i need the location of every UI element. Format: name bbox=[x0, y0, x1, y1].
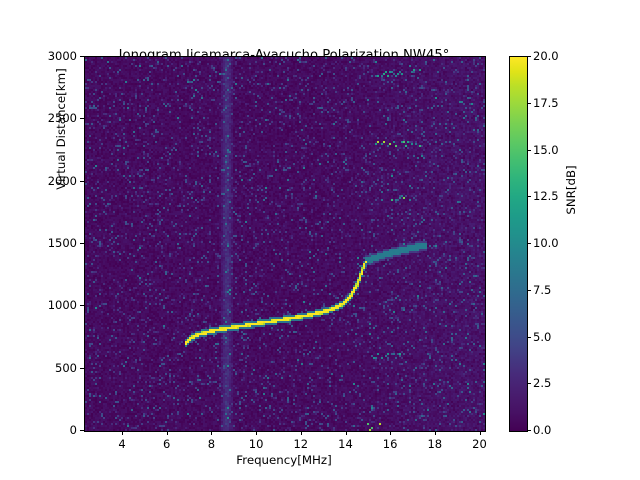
x-tick-label: 14 bbox=[326, 437, 366, 451]
x-tick-mark bbox=[167, 431, 168, 435]
colorbar-label: SNR[dB] bbox=[564, 130, 578, 250]
x-tick-mark bbox=[480, 431, 481, 435]
x-tick-label: 12 bbox=[281, 437, 321, 451]
y-tick-mark bbox=[80, 305, 84, 306]
y-tick-mark bbox=[80, 243, 84, 244]
x-tick-mark bbox=[346, 431, 347, 435]
y-tick-mark bbox=[80, 56, 84, 57]
y-tick-label: 3000 bbox=[17, 49, 77, 63]
x-tick-label: 4 bbox=[102, 437, 142, 451]
x-tick-label: 6 bbox=[147, 437, 187, 451]
y-tick-mark bbox=[80, 368, 84, 369]
x-tick-mark bbox=[211, 431, 212, 435]
x-tick-label: 10 bbox=[236, 437, 276, 451]
colorbar-tick-mark bbox=[527, 383, 531, 384]
y-tick-label: 2500 bbox=[17, 111, 77, 125]
x-tick-label: 20 bbox=[460, 437, 500, 451]
colorbar-tick-mark bbox=[527, 243, 531, 244]
colorbar-tick-mark bbox=[527, 430, 531, 431]
colorbar-tick-label: 0.0 bbox=[533, 423, 551, 437]
colorbar-tick-label: 15.0 bbox=[533, 143, 559, 157]
x-tick-label: 18 bbox=[415, 437, 455, 451]
colorbar-tick-mark bbox=[527, 103, 531, 104]
x-tick-mark bbox=[301, 431, 302, 435]
x-tick-mark bbox=[122, 431, 123, 435]
y-tick-mark bbox=[80, 118, 84, 119]
colorbar-tick-label: 10.0 bbox=[533, 236, 559, 250]
colorbar-tick-mark bbox=[527, 150, 531, 151]
y-tick-mark bbox=[80, 181, 84, 182]
colorbar-tick-mark bbox=[527, 290, 531, 291]
x-tick-mark bbox=[256, 431, 257, 435]
colorbar-tick-mark bbox=[527, 337, 531, 338]
colorbar-tick-label: 2.5 bbox=[533, 376, 551, 390]
y-axis-label: Virtual Distance[km] bbox=[54, 9, 68, 249]
y-tick-label: 0 bbox=[17, 423, 77, 437]
ionogram-plot-area bbox=[84, 56, 486, 432]
x-tick-label: 8 bbox=[191, 437, 231, 451]
colorbar-tick-label: 17.5 bbox=[533, 96, 559, 110]
x-tick-label: 16 bbox=[370, 437, 410, 451]
y-tick-label: 500 bbox=[17, 361, 77, 375]
colorbar-tick-label: 12.5 bbox=[533, 189, 559, 203]
x-tick-mark bbox=[390, 431, 391, 435]
colorbar-tick-label: 20.0 bbox=[533, 49, 559, 63]
y-tick-mark bbox=[80, 430, 84, 431]
colorbar-tick-mark bbox=[527, 196, 531, 197]
y-tick-label: 1500 bbox=[17, 236, 77, 250]
ionogram-figure: Ionogram Jicamarca-Ayacucho Polarization… bbox=[0, 0, 640, 480]
colorbar-tick-label: 5.0 bbox=[533, 330, 551, 344]
colorbar-tick-mark bbox=[527, 56, 531, 57]
y-tick-label: 2000 bbox=[17, 174, 77, 188]
y-tick-label: 1000 bbox=[17, 298, 77, 312]
snr-colorbar bbox=[509, 56, 528, 432]
x-axis-label: Frequency[MHz] bbox=[84, 453, 484, 467]
ionogram-heatmap bbox=[85, 57, 485, 431]
colorbar-tick-label: 7.5 bbox=[533, 283, 551, 297]
x-tick-mark bbox=[435, 431, 436, 435]
